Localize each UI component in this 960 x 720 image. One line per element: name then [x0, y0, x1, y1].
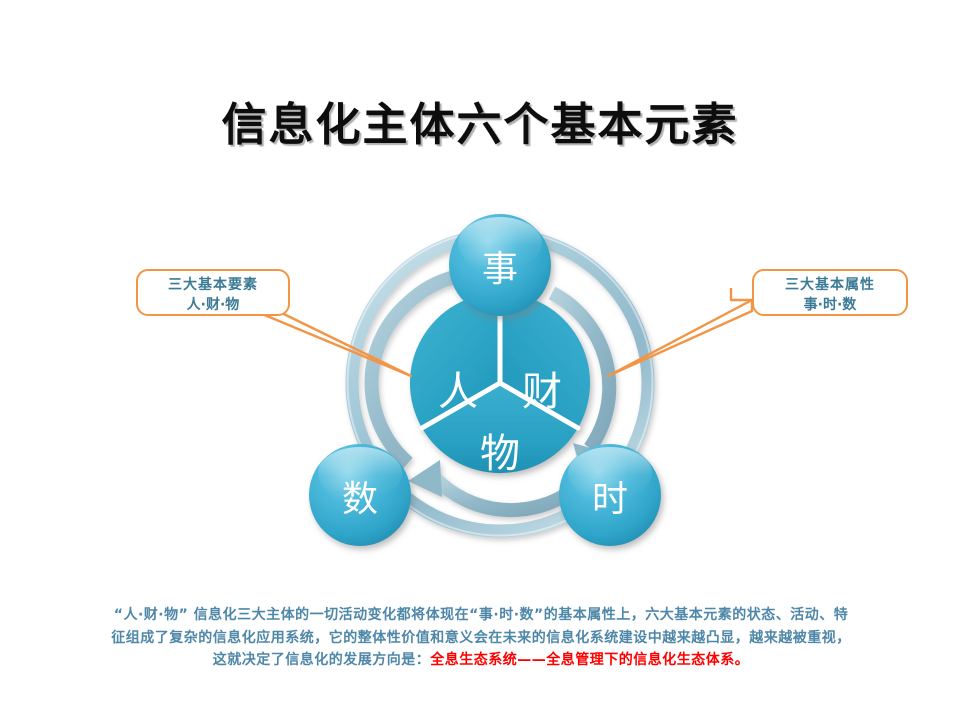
callout-right-line1: 三大基本属性 — [760, 275, 900, 295]
segment-cai-label: 财 — [522, 369, 562, 415]
node-shi-time-label: 时 — [592, 479, 628, 520]
node-shu-number-label: 数 — [342, 479, 378, 520]
segment-wu-label: 物 — [480, 431, 520, 477]
connector-right-stub — [731, 288, 752, 300]
callout-three-basic-attributes[interactable]: 三大基本属性 事·时·数 — [752, 269, 908, 316]
footnote-paragraph: “人·财·物” 信息化三大主体的一切活动变化都将体现在“事·时·数”的基本属性上… — [110, 604, 852, 672]
page-title: 信息化主体六个基本元素 — [0, 100, 960, 150]
callout-three-basic-elements[interactable]: 三大基本要素 人·财·物 — [136, 269, 290, 316]
six-elements-diagram: 人 财 物 事 时 数 — [290, 205, 710, 560]
slide-canvas: 信息化主体六个基本元素 — [0, 0, 960, 720]
callout-right-line2: 事·时·数 — [760, 295, 900, 315]
node-shi-event-label: 事 — [482, 249, 518, 290]
callout-left-line2: 人·财·物 — [144, 295, 282, 315]
callout-left-line1: 三大基本要素 — [144, 275, 282, 295]
footnote-highlight: 全息生态系统——全息管理下的信息化生态体系。 — [430, 652, 749, 668]
segment-ren-label: 人 — [438, 369, 478, 415]
